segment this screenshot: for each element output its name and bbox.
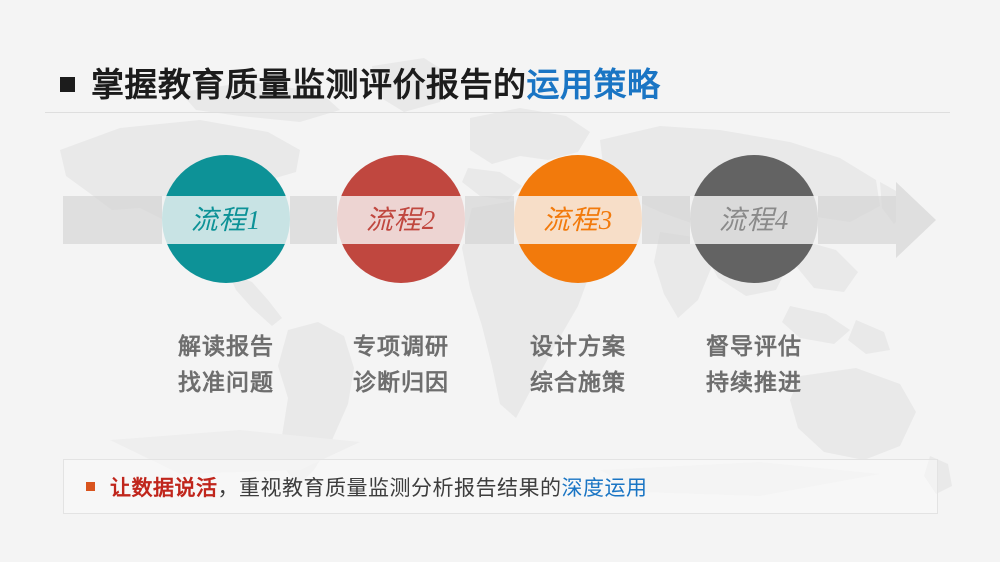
process-circle-4-label: 流程4	[719, 207, 790, 234]
process-circle-4[interactable]: 流程4	[690, 155, 818, 283]
note-highlight-red: 让数据说活	[110, 476, 218, 500]
note-middle: ，重视教育质量监测分析报告结果的	[218, 476, 562, 500]
process-circle-2[interactable]: 流程2	[337, 155, 465, 283]
process-circle-1-label: 流程1	[191, 207, 262, 234]
note-bullet-square	[86, 482, 95, 491]
process-caption-2-line1: 专项调研	[306, 328, 496, 364]
process-circle-1[interactable]: 流程1	[162, 155, 290, 283]
title-bullet-square	[60, 77, 75, 92]
title-divider	[45, 112, 950, 113]
title-text: 掌握教育质量监测评价报告的运用策略	[91, 68, 661, 101]
process-circle-3-label: 流程3	[543, 207, 614, 234]
process-caption-2: 专项调研 诊断归因	[306, 328, 496, 400]
process-caption-4-line1: 督导评估	[659, 328, 849, 364]
process-circle-4-band: 流程4	[690, 196, 818, 244]
page-title: 掌握教育质量监测评价报告的运用策略	[60, 60, 661, 108]
summary-note-text: 让数据说活，重视教育质量监测分析报告结果的深度运用	[110, 472, 648, 502]
process-circle-3[interactable]: 流程3	[514, 155, 642, 283]
process-circle-1-band: 流程1	[162, 196, 290, 244]
process-caption-4: 督导评估 持续推进	[659, 328, 849, 400]
process-arrow-head-icon	[896, 182, 936, 258]
process-caption-1-line2: 找准问题	[131, 364, 321, 400]
process-caption-1: 解读报告 找准问题	[131, 328, 321, 400]
process-caption-4-line2: 持续推进	[659, 364, 849, 400]
process-caption-1-line1: 解读报告	[131, 328, 321, 364]
process-circle-2-band: 流程2	[337, 196, 465, 244]
process-caption-3-line1: 设计方案	[483, 328, 673, 364]
process-caption-2-line2: 诊断归因	[306, 364, 496, 400]
slide-canvas: 掌握教育质量监测评价报告的运用策略 流程1 流程2 流程3 流程4 解读报告 找…	[0, 0, 1000, 562]
process-caption-3: 设计方案 综合施策	[483, 328, 673, 400]
title-accent: 运用策略	[527, 66, 661, 103]
summary-note-box: 让数据说活，重视教育质量监测分析报告结果的深度运用	[63, 459, 938, 514]
note-highlight-blue: 深度运用	[562, 476, 648, 500]
process-circle-2-label: 流程2	[366, 207, 437, 234]
process-caption-3-line2: 综合施策	[483, 364, 673, 400]
title-main: 掌握教育质量监测评价报告的	[91, 66, 527, 103]
process-circle-3-band: 流程3	[514, 196, 642, 244]
